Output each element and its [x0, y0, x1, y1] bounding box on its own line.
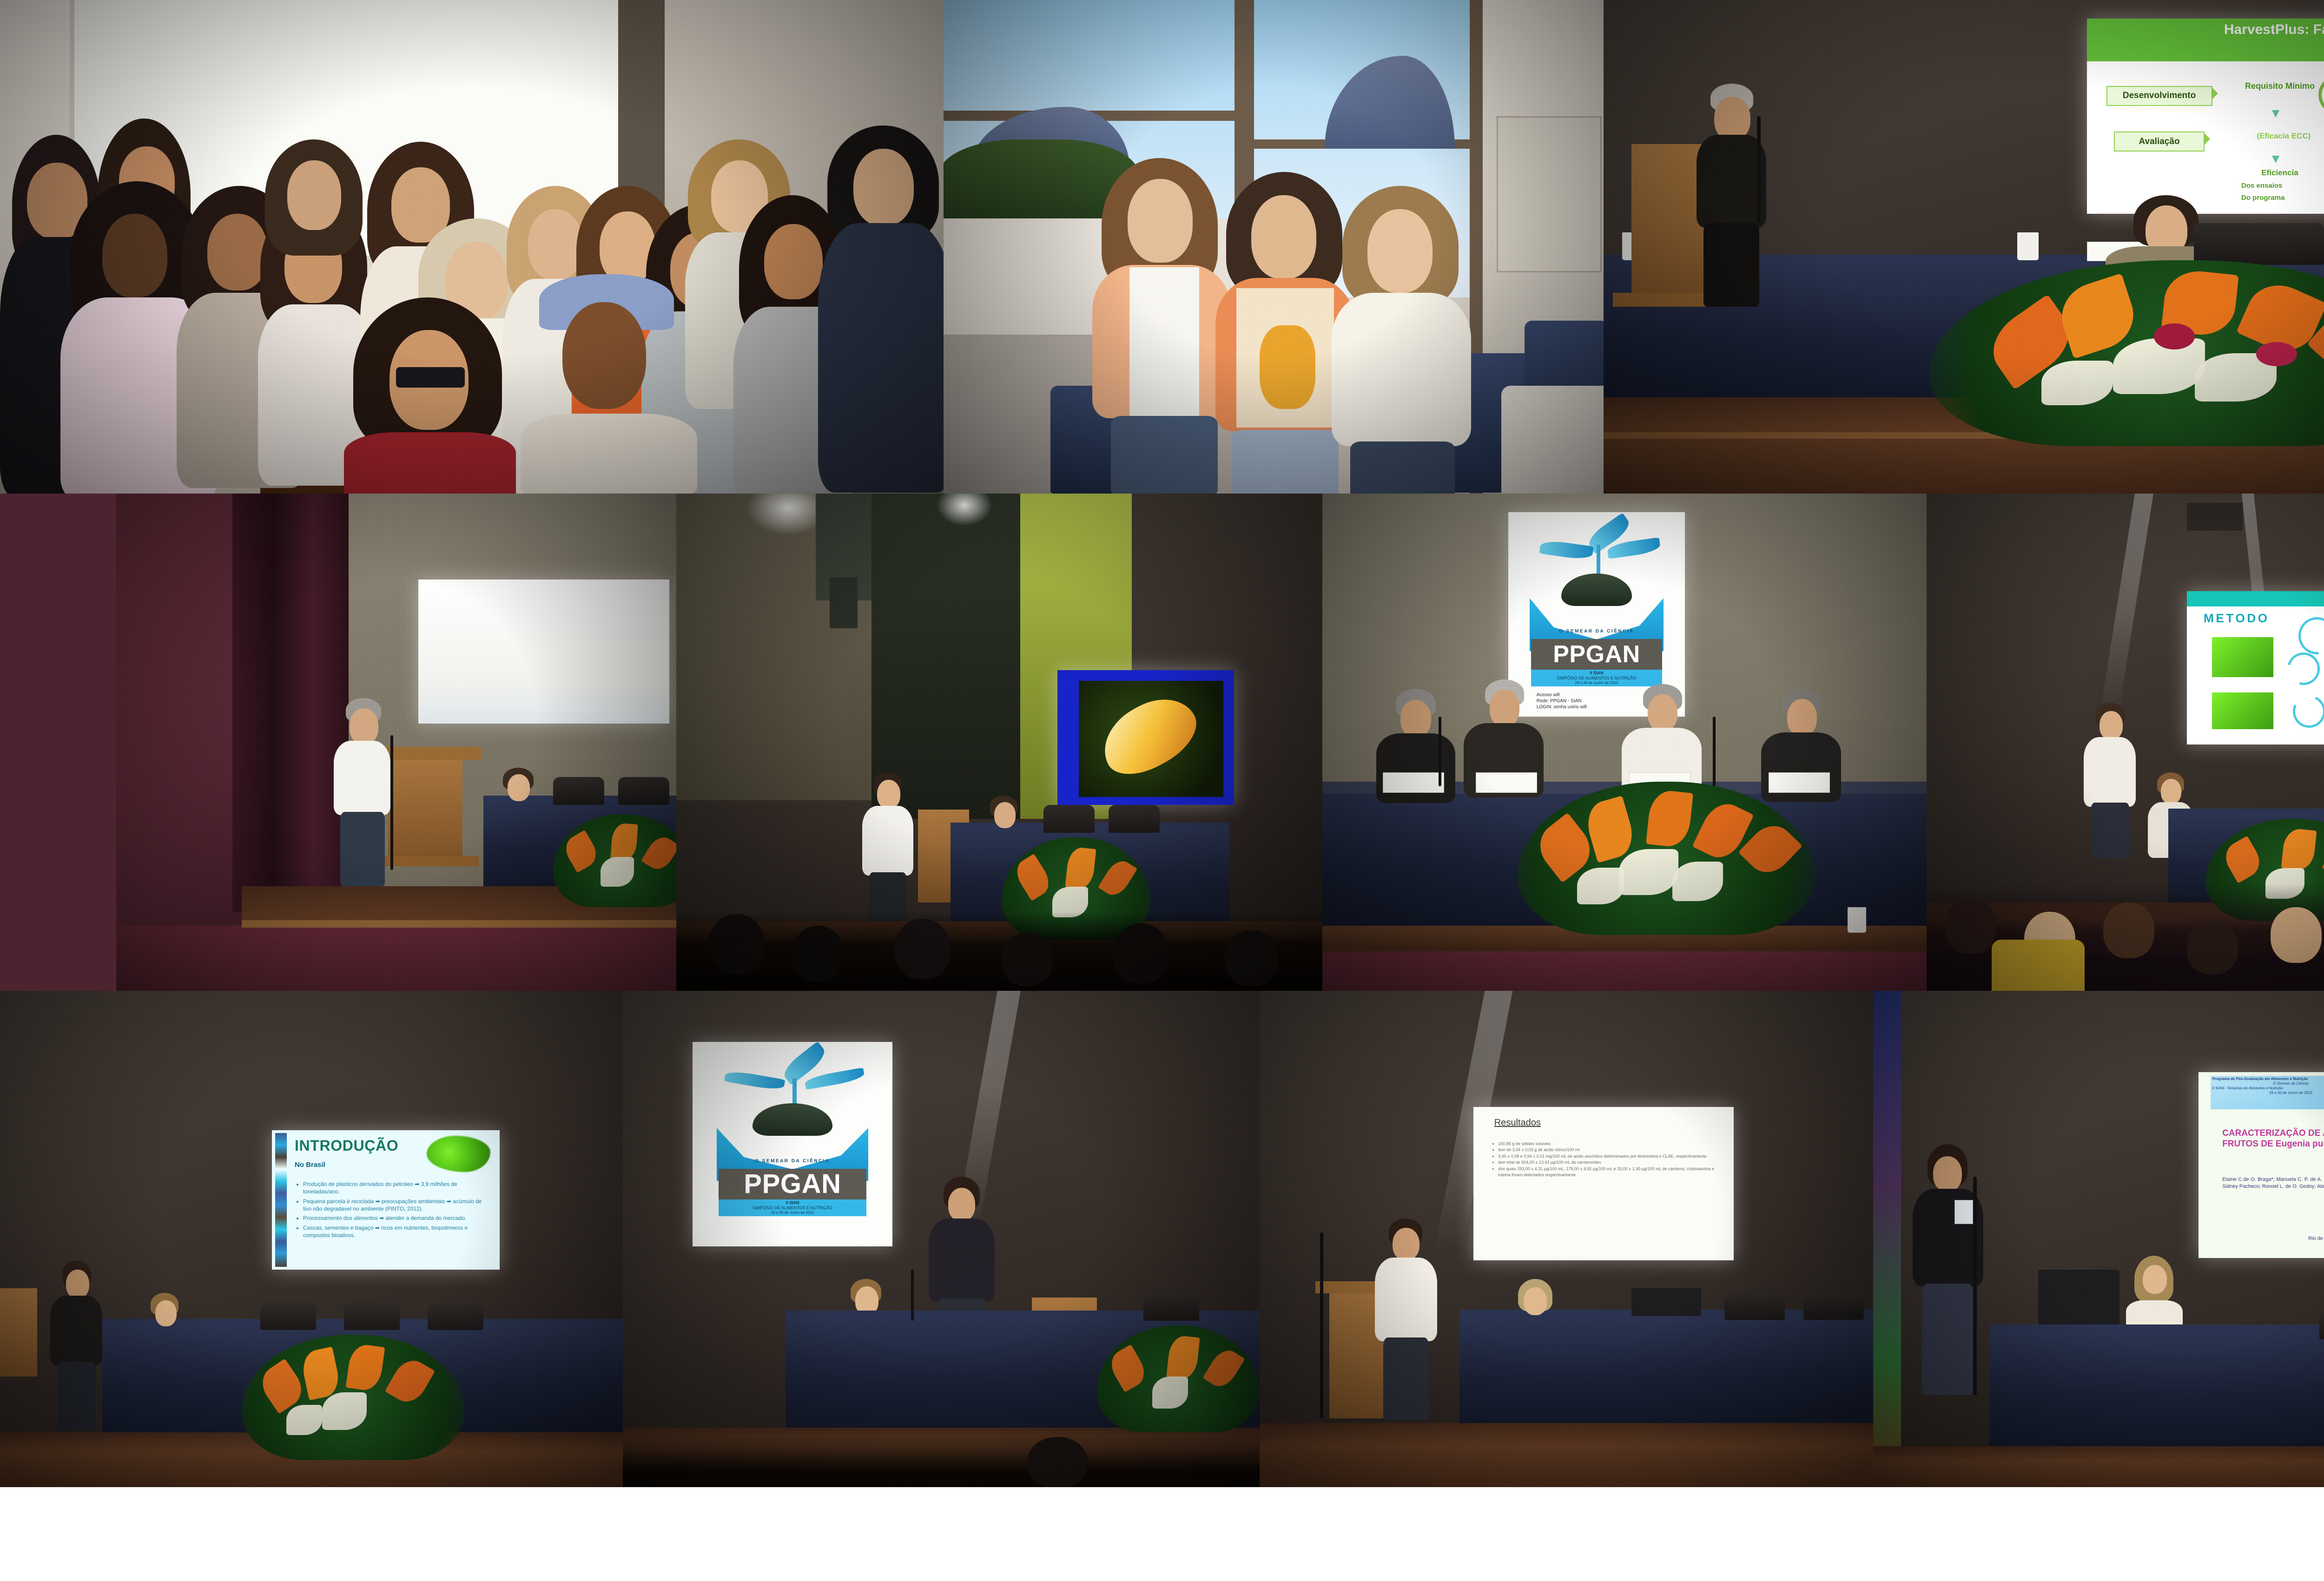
- panel-ppgan-slide[interactable]: O SEMEAR DA CIÊNCIA PPGAN II SIAN SIMPÓS…: [623, 991, 1260, 1487]
- panel-three-women[interactable]: Three women standing by a window with a …: [944, 0, 1604, 494]
- photo-collage: Group photo of students and staff in fro…: [0, 0, 2324, 1487]
- panel-group-photo[interactable]: Group photo of students and staff in fro…: [0, 0, 944, 494]
- collage-page: Group photo of students and staff in fro…: [0, 0, 2324, 1581]
- panel-introducao[interactable]: INTRODUÇÃO No Brasil Produção de plástic…: [0, 991, 623, 1487]
- panel-cacau[interactable]: Presenter in white coat; cacao pod photo…: [676, 494, 1322, 991]
- panel-metodo[interactable]: METODO: [1927, 494, 2324, 991]
- panel-stage-white-screen[interactable]: Speaker at wooden lectern on stage with …: [116, 494, 676, 991]
- panel-harvestplus[interactable]: HarvestPlus: Fases de pesquisa em Nutriç…: [1604, 0, 2324, 494]
- panel-antocianinas[interactable]: Programa de Pós-Graduação em Alimentos e…: [1873, 991, 2324, 1487]
- panel-ppgan-table[interactable]: O SEMEAR DA CIÊNCIA PPGAN II SIAN SIMPÓS…: [1322, 494, 1927, 991]
- panel-resultados[interactable]: Resultados 100,86 g de sólidos solúveis …: [1260, 991, 1873, 1487]
- bottom-white-margin: [0, 1487, 2324, 1581]
